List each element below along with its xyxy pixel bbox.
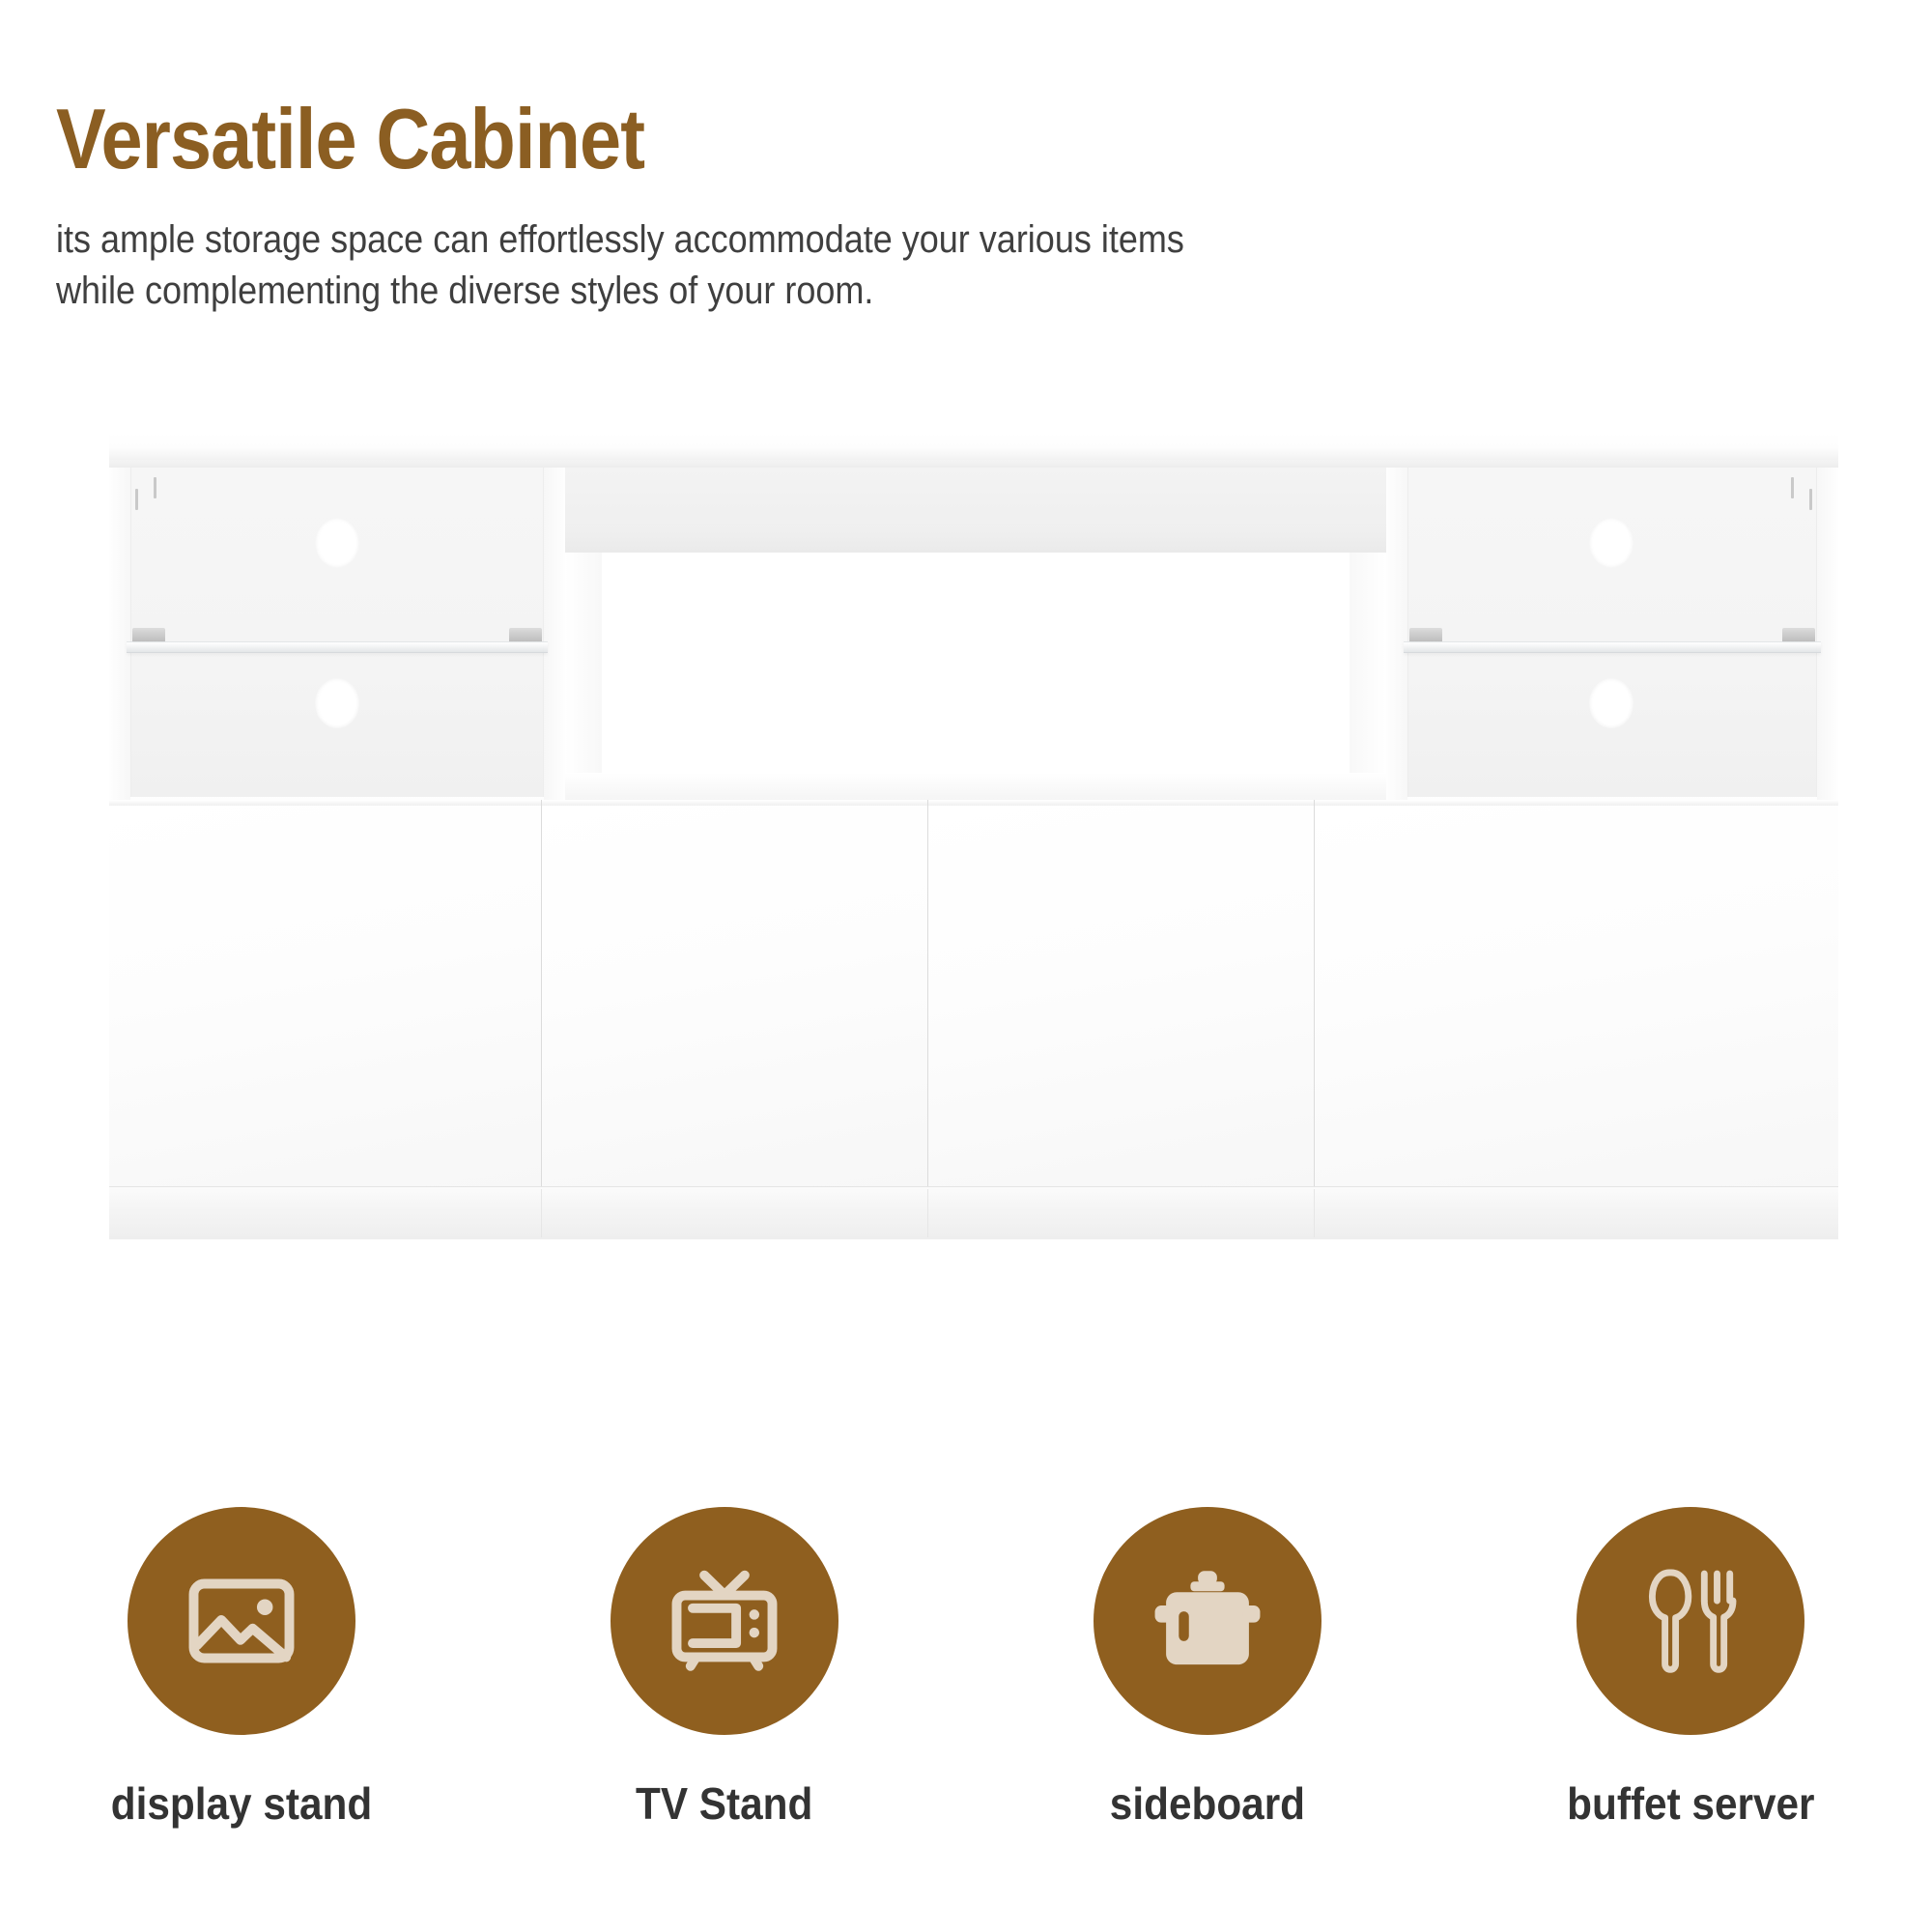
upper-right-cubby xyxy=(1386,468,1838,800)
plinth-seam xyxy=(927,1189,928,1237)
cubby-left-panel xyxy=(109,468,131,800)
cable-hole-lower xyxy=(315,678,359,728)
feature-icon-badge xyxy=(1577,1507,1804,1735)
shelf-pin xyxy=(1809,489,1812,510)
cabinet-lower-doors xyxy=(109,800,1838,1186)
tv-bay-left-panel xyxy=(565,553,602,800)
cubby-right-panel xyxy=(543,468,565,800)
door-top-edge xyxy=(109,800,541,806)
cabinet-top-board-face xyxy=(109,460,1838,468)
cabinet-plinth xyxy=(109,1186,1838,1239)
door-top-edge xyxy=(542,800,927,806)
page-subtitle: its ample storage space can effortlessly… xyxy=(56,214,1621,317)
feature-icon-badge xyxy=(611,1507,838,1735)
page-title: Versatile Cabinet xyxy=(56,97,1586,182)
door-top-edge xyxy=(1315,800,1838,806)
feature-label: display stand xyxy=(111,1777,372,1830)
feature-icon-badge xyxy=(128,1507,355,1735)
cable-hole-upper xyxy=(1589,518,1634,568)
tv-bay-top-panel xyxy=(565,468,1386,553)
feature-label: TV Stand xyxy=(636,1777,812,1830)
subtitle-line-1: its ample storage space can effortlessly… xyxy=(56,214,1621,266)
feature-list: display stand TV Stand xyxy=(0,1507,1932,1830)
cooking-pot-icon xyxy=(1144,1557,1271,1685)
door-top-edge xyxy=(928,800,1314,806)
cabinet-door-1[interactable] xyxy=(109,800,541,1186)
cubby-right-panel xyxy=(1816,468,1838,800)
product-image-area xyxy=(0,415,1932,1468)
tv-bay-floor xyxy=(565,773,1386,800)
feature-item-buffet-server[interactable]: buffet server xyxy=(1449,1507,1932,1830)
storage-cabinet xyxy=(109,415,1838,1439)
feature-icon-badge xyxy=(1094,1507,1321,1735)
cabinet-upper-section xyxy=(109,468,1838,800)
feature-item-display-stand[interactable]: display stand xyxy=(0,1507,483,1830)
header-block: Versatile Cabinet its ample storage spac… xyxy=(56,97,1795,317)
shelf-pin xyxy=(1791,477,1794,498)
spoon-fork-icon xyxy=(1627,1557,1754,1685)
cabinet-door-4[interactable] xyxy=(1314,800,1838,1186)
plinth-seam xyxy=(541,1189,542,1237)
feature-label: sideboard xyxy=(1110,1777,1305,1830)
shelf-pin xyxy=(154,477,156,498)
upper-left-cubby xyxy=(109,468,565,800)
subtitle-line-2: while complementing the diverse styles o… xyxy=(56,266,1621,317)
glass-shelf xyxy=(1404,641,1821,653)
feature-label: buffet server xyxy=(1567,1777,1814,1830)
tv-bay-right-panel xyxy=(1350,553,1386,800)
picture-frame-icon xyxy=(178,1557,305,1685)
cubby-left-panel xyxy=(1386,468,1408,800)
feature-item-sideboard[interactable]: sideboard xyxy=(966,1507,1449,1830)
glass-shelf xyxy=(127,641,548,653)
cable-hole-upper xyxy=(315,518,359,568)
plinth-seam xyxy=(1314,1189,1315,1237)
feature-item-tv-stand[interactable]: TV Stand xyxy=(483,1507,966,1830)
cable-hole-lower xyxy=(1589,678,1634,728)
cabinet-top-board xyxy=(109,433,1838,460)
tv-bay-opening xyxy=(602,553,1350,773)
television-icon xyxy=(661,1557,788,1685)
shelf-pin xyxy=(135,489,138,510)
cabinet-door-3[interactable] xyxy=(927,800,1314,1186)
upper-center-tv-bay xyxy=(565,468,1386,800)
cabinet-door-2[interactable] xyxy=(541,800,927,1186)
